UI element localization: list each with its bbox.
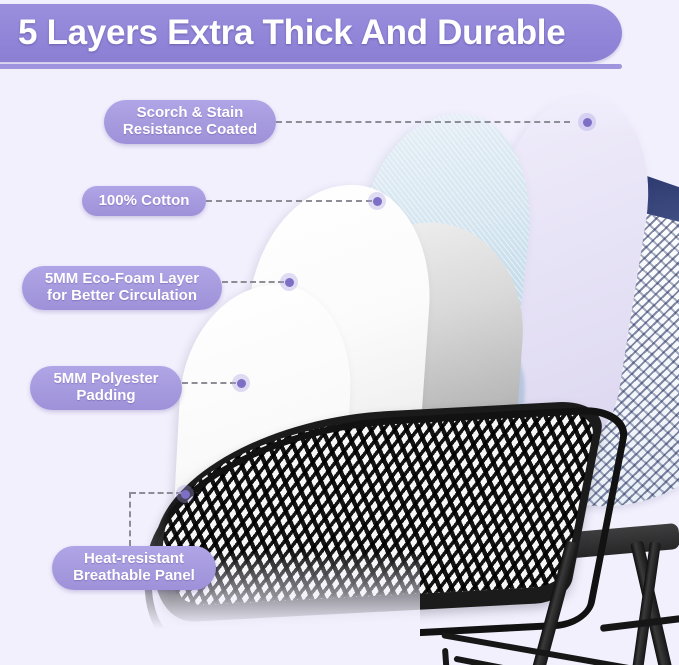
page-title: 5 Layers Extra Thick And Durable [18,10,618,56]
callout-label-mesh-panel: Heat-resistant Breathable Panel [52,546,216,590]
callout-dot-eco-foam [280,273,298,291]
callout-connector-mesh-horizontal [130,492,182,494]
callout-label-eco-foam: 5MM Eco-Foam Layer for Better Circulatio… [22,266,222,310]
callout-label-polyester: 5MM Polyester Padding [30,366,182,410]
callout-connector-polyester [182,382,236,384]
callout-dot-cotton [368,192,386,210]
callout-connector-eco-foam [222,281,284,283]
callout-label-cotton: 100% Cotton [82,186,206,216]
callout-dot-polyester [232,374,250,392]
board-wire-shelf [442,648,452,665]
callout-connector-mesh-vertical [129,492,131,546]
callout-dot-scorch-stain [578,113,596,131]
callout-label-scorch-stain: Scorch & Stain Resistance Coated [104,100,276,144]
header-underline [0,64,622,69]
callout-connector-scorch-stain [276,121,570,123]
callout-dot-mesh-panel [176,485,194,503]
infographic-canvas: 5 Layers Extra Thick And Durable [0,0,679,665]
callout-connector-cotton [206,200,372,202]
